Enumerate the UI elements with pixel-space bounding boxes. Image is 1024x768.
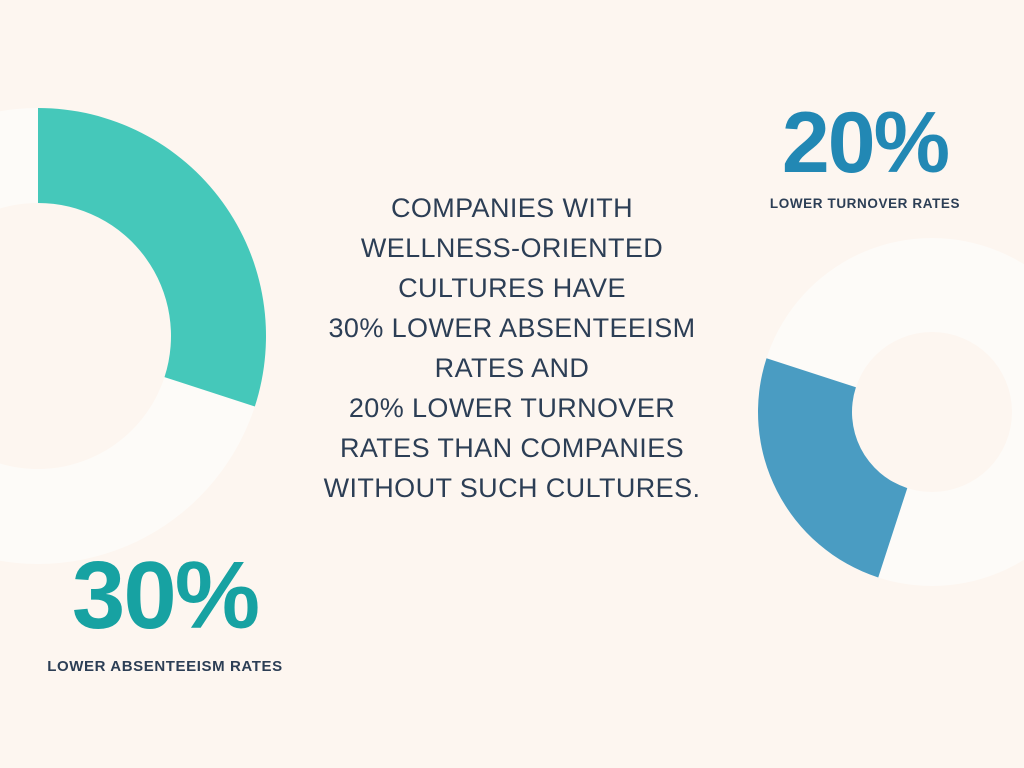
infographic-canvas: COMPANIES WITH WELLNESS-ORIENTED CULTURE… <box>0 0 1024 768</box>
statement-line: 20% LOWER TURNOVER <box>288 388 736 428</box>
stat-absenteeism-value: 30% <box>10 548 320 644</box>
statement-line: RATES THAN COMPANIES <box>288 428 736 468</box>
stat-absenteeism-caption: LOWER ABSENTEEISM RATES <box>10 658 320 675</box>
stat-turnover-caption: LOWER TURNOVER RATES <box>720 196 1010 211</box>
turnover-donut-value-slice <box>758 358 907 577</box>
turnover-donut-chart <box>752 212 1024 612</box>
absenteeism-donut-chart <box>0 86 310 586</box>
statement-line: 30% LOWER ABSENTEEISM <box>288 308 736 348</box>
statement-line: WITHOUT SUCH CULTURES. <box>288 468 736 508</box>
stat-turnover: 20% LOWER TURNOVER RATES <box>720 100 1010 211</box>
statement-line: CULTURES HAVE <box>288 268 736 308</box>
statement-line: COMPANIES WITH <box>288 188 736 228</box>
stat-turnover-value: 20% <box>720 100 1010 186</box>
stat-absenteeism: 30% LOWER ABSENTEEISM RATES <box>10 548 320 675</box>
statement-line: WELLNESS-ORIENTED <box>288 228 736 268</box>
statement-line: RATES AND <box>288 348 736 388</box>
main-statement: COMPANIES WITH WELLNESS-ORIENTED CULTURE… <box>288 188 736 508</box>
absenteeism-donut-value-slice <box>38 108 266 406</box>
